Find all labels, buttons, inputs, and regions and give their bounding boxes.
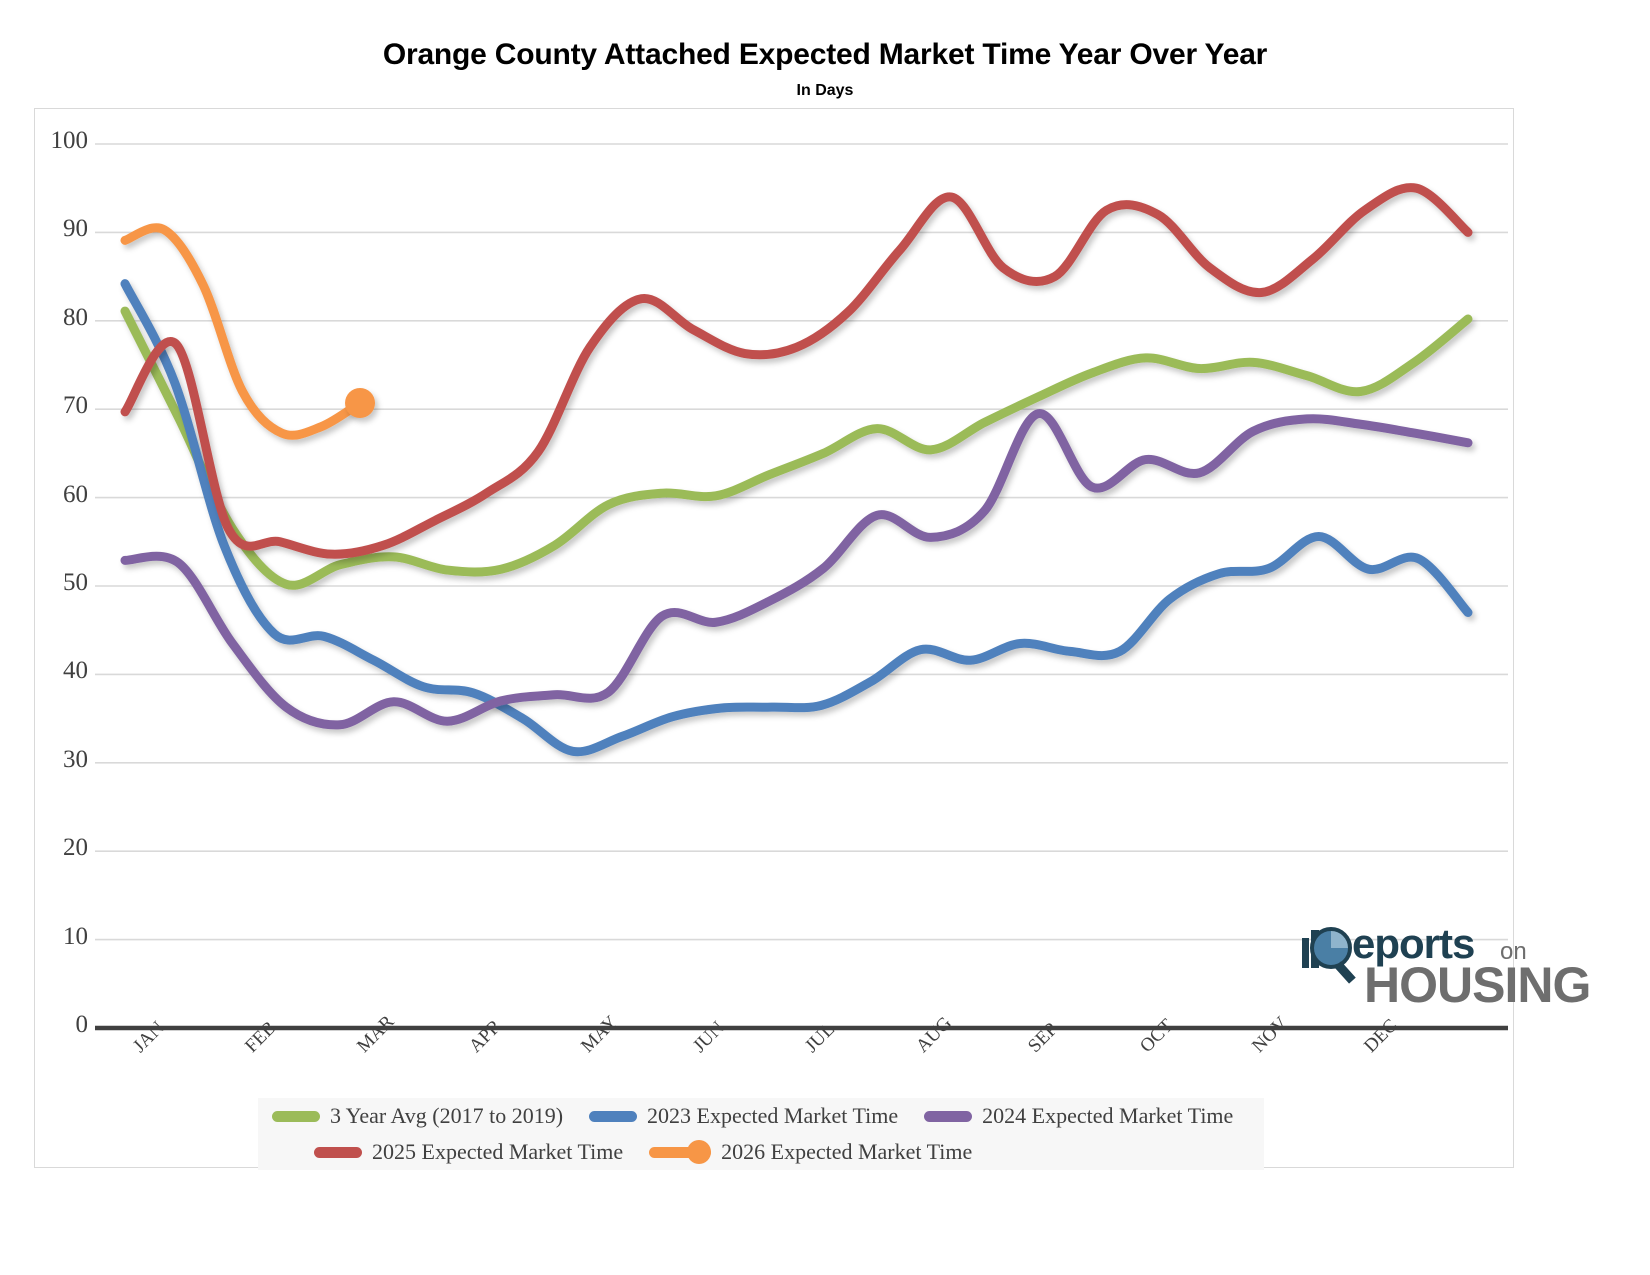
chart-subtitle: In Days [0, 82, 1650, 100]
chart-legend: 3 Year Avg (2017 to 2019)2023 Expected M… [258, 1098, 1264, 1170]
y-tick-label: 0 [18, 1011, 88, 1039]
plot-frame [34, 108, 1514, 1168]
legend-swatch-icon [649, 1147, 711, 1158]
legend-row-2: 2025 Expected Market Time2026 Expected M… [258, 1134, 1264, 1170]
legend-row-1: 3 Year Avg (2017 to 2019)2023 Expected M… [258, 1098, 1264, 1134]
legend-label: 2023 Expected Market Time [647, 1103, 898, 1129]
y-tick-label: 30 [18, 746, 88, 774]
legend-swatch-icon [924, 1111, 972, 1122]
chart-page: Orange County Attached Expected Market T… [0, 0, 1650, 1275]
legend-swatch-icon [589, 1111, 637, 1122]
y-tick-label: 70 [18, 392, 88, 420]
y-tick-label: 40 [18, 657, 88, 685]
legend-item[interactable]: 2025 Expected Market Time [314, 1139, 623, 1165]
legend-label: 2026 Expected Market Time [721, 1139, 972, 1165]
y-tick-label: 20 [18, 834, 88, 862]
y-tick-label: 80 [18, 304, 88, 332]
legend-label: 3 Year Avg (2017 to 2019) [330, 1103, 563, 1129]
legend-item[interactable]: 2024 Expected Market Time [924, 1103, 1233, 1129]
y-tick-label: 90 [18, 215, 88, 243]
y-tick-label: 10 [18, 923, 88, 951]
legend-label: 2025 Expected Market Time [372, 1139, 623, 1165]
legend-swatch-icon [314, 1147, 362, 1158]
legend-swatch-icon [272, 1111, 320, 1122]
y-tick-label: 60 [18, 481, 88, 509]
legend-marker-dot-icon [687, 1140, 711, 1164]
page-title: Orange County Attached Expected Market T… [0, 38, 1650, 72]
logo-word-housing: HOUSING [1364, 956, 1590, 1014]
y-tick-label: 100 [18, 127, 88, 155]
legend-label: 2024 Expected Market Time [982, 1103, 1233, 1129]
brand-logo: eports on HOUSING [1300, 918, 1560, 1018]
legend-item[interactable]: 2023 Expected Market Time [589, 1103, 898, 1129]
y-tick-label: 50 [18, 569, 88, 597]
legend-item[interactable]: 3 Year Avg (2017 to 2019) [272, 1103, 563, 1129]
legend-item[interactable]: 2026 Expected Market Time [649, 1139, 972, 1165]
